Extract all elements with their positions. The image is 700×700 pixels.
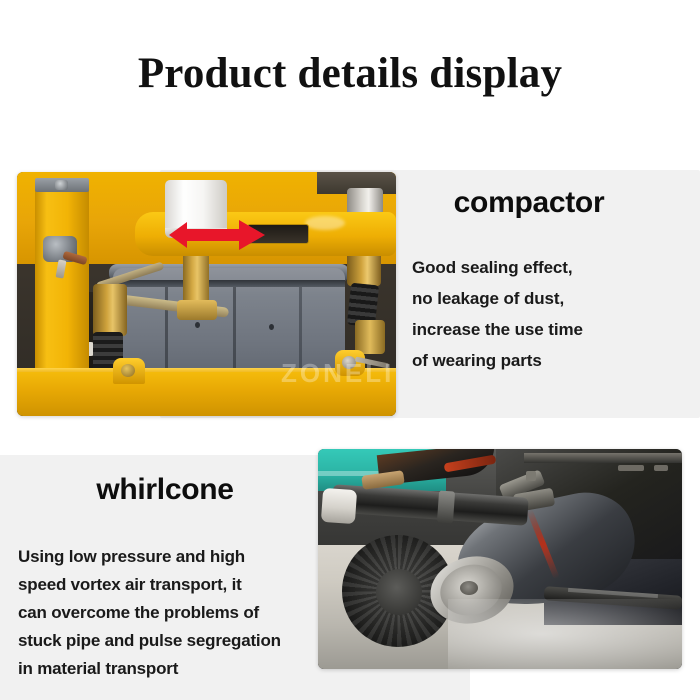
brass-fitting-left (93, 284, 127, 336)
pipe-white-coupling (321, 488, 357, 524)
whirlcone-description-line-1: Using low pressure and high (18, 543, 348, 571)
tire-hub (376, 569, 422, 615)
chassis-notch (618, 465, 644, 471)
compactor-photo: ZONELI (17, 172, 396, 416)
brass-fitting-right-lower (355, 320, 385, 354)
whirlcone-description-line-2: speed vortex air transport, it (18, 571, 348, 599)
whirlcone-description: Using low pressure and high speed vortex… (18, 543, 348, 683)
compactor-description: Good sealing effect, no leakage of dust,… (400, 252, 700, 376)
whirlcone-photo (318, 449, 682, 669)
compactor-heading: compactor (400, 186, 700, 220)
arm-highlight (305, 216, 345, 230)
whirlcone-description-line-5: in material transport (18, 655, 348, 683)
bracket-bolt (55, 180, 68, 190)
chassis-top-edge (524, 453, 682, 463)
compactor-description-line-1: Good sealing effect, (412, 252, 700, 283)
chassis-notch (654, 465, 668, 471)
section-whirlcone: whirlcone Using low pressure and high sp… (0, 455, 700, 700)
drum-bolt (195, 322, 200, 328)
brass-nut-centre (177, 300, 217, 320)
whirlcone-heading: whirlcone (0, 473, 330, 507)
whirlcone-description-line-3: can overcome the problems of (18, 599, 348, 627)
pipe-collar (437, 490, 455, 523)
section-compactor: compactor Good sealing effect, no leakag… (0, 170, 700, 418)
pivot-pin-left (121, 364, 135, 377)
whirlcone-description-line-4: stuck pipe and pulse segregation (18, 627, 348, 655)
photo-watermark: ZONELI (281, 358, 394, 389)
compactor-description-line-3: increase the use time (412, 314, 700, 345)
red-arrow-shaft-icon (185, 229, 247, 241)
compactor-description-line-4: of wearing parts (412, 345, 700, 376)
cone-mouth-core (460, 581, 478, 595)
drum-rim-lower (113, 280, 345, 287)
product-details-page: Product details display compactor Good s… (0, 0, 700, 700)
drum-bolt (269, 324, 274, 330)
floor-dust-haze (448, 599, 682, 669)
page-title-bar: Product details display (0, 38, 700, 108)
page-title: Product details display (138, 49, 562, 98)
cone-clamp-bolt (526, 471, 536, 481)
compactor-description-line-2: no leakage of dust, (412, 283, 700, 314)
red-arrow-head-icon (239, 220, 265, 250)
compactor-text-inner: compactor Good sealing effect, no leakag… (400, 186, 700, 406)
